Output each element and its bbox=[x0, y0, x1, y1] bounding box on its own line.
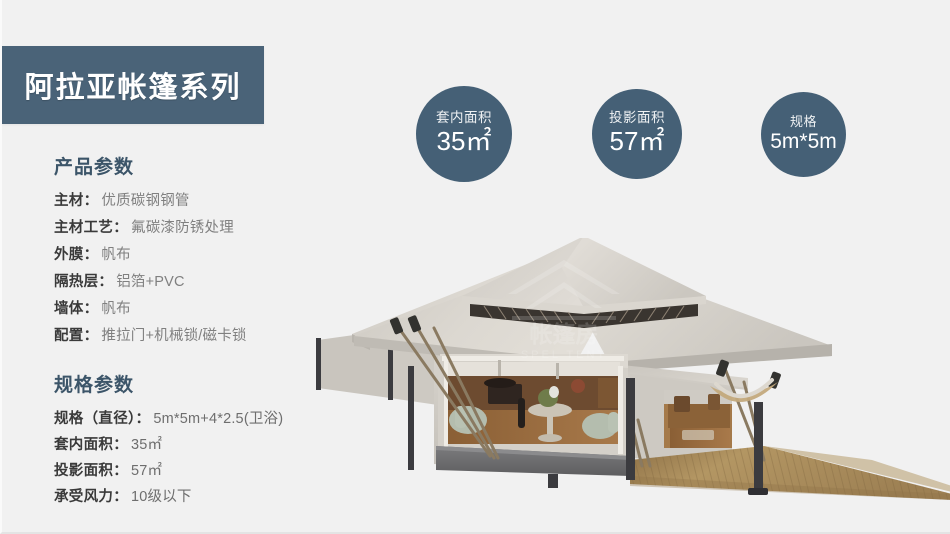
param-label: 墙体： bbox=[54, 301, 98, 317]
param-value: 5m*5m+4*2.5(卫浴) bbox=[153, 411, 283, 427]
badge-caption: 套内面积 bbox=[436, 111, 492, 126]
param-value: 帆布 bbox=[101, 247, 130, 263]
badge-value: 35㎡ bbox=[437, 127, 492, 157]
spec-section-heading: 规格参数 bbox=[54, 370, 354, 397]
list-item: 配置：推拉门+机械锁/磁卡锁 bbox=[54, 323, 354, 350]
svg-text:SPEL TENT: SPEL TENT bbox=[521, 349, 607, 361]
badge-projected-area: 投影面积 57㎡ bbox=[592, 89, 682, 179]
badge-value: 5m*5m bbox=[770, 130, 837, 154]
badge-caption: 投影面积 bbox=[609, 111, 665, 126]
list-item: 墙体：帆布 bbox=[54, 296, 354, 323]
param-value: 35㎡ bbox=[131, 437, 162, 453]
param-label: 主材： bbox=[54, 193, 98, 209]
param-label: 隔热层： bbox=[54, 274, 113, 290]
badge-dimensions: 规格 5m*5m bbox=[761, 92, 846, 177]
param-value: 57㎡ bbox=[131, 463, 162, 479]
param-label: 配置： bbox=[54, 328, 98, 344]
list-item: 主材：优质碳钢钢管 bbox=[54, 188, 354, 215]
badge-interior-area: 套内面积 35㎡ bbox=[416, 86, 512, 182]
product-parameter-list: 主材：优质碳钢钢管 主材工艺：氟碳漆防锈处理 外膜：帆布 隔热层：铝箔+PVC … bbox=[54, 188, 354, 350]
param-label: 主材工艺： bbox=[54, 220, 128, 236]
badge-caption: 规格 bbox=[790, 115, 817, 129]
param-label: 套内面积： bbox=[54, 437, 128, 453]
list-item: 规格（直径）：5m*5m+4*2.5(卫浴) bbox=[54, 406, 354, 432]
list-item: 主材工艺：氟碳漆防锈处理 bbox=[54, 215, 354, 242]
list-item: 隔热层：铝箔+PVC bbox=[54, 269, 354, 296]
list-item: 套内面积：35㎡ bbox=[54, 432, 354, 458]
list-item: 承受风力：10级以下 bbox=[54, 484, 354, 510]
poster-canvas: 阿拉亚帐篷系列 产品参数 主材：优质碳钢钢管 主材工艺：氟碳漆防锈处理 外膜：帆… bbox=[0, 0, 950, 534]
param-value: 帆布 bbox=[101, 301, 130, 317]
param-label: 规格（直径）： bbox=[54, 411, 150, 427]
tent-illustration: 帐篷房 SPEL TENT bbox=[312, 238, 950, 500]
param-label: 投影面积： bbox=[54, 463, 128, 479]
list-item: 投影面积：57㎡ bbox=[54, 458, 354, 484]
list-item: 外膜：帆布 bbox=[54, 242, 354, 269]
param-label: 承受风力： bbox=[54, 489, 128, 505]
specs-panel: 产品参数 主材：优质碳钢钢管 主材工艺：氟碳漆防锈处理 外膜：帆布 隔热层：铝箔… bbox=[54, 152, 354, 510]
spec-parameter-list: 规格（直径）：5m*5m+4*2.5(卫浴) 套内面积：35㎡ 投影面积：57㎡… bbox=[54, 406, 354, 510]
svg-text:帐篷房: 帐篷房 bbox=[530, 321, 599, 347]
product-section-heading: 产品参数 bbox=[54, 152, 354, 179]
cap-roof bbox=[462, 238, 706, 328]
param-value: 优质碳钢钢管 bbox=[101, 193, 189, 209]
badge-value: 57㎡ bbox=[610, 127, 665, 157]
param-value: 10级以下 bbox=[131, 489, 192, 505]
param-value: 推拉门+机械锁/磁卡锁 bbox=[101, 328, 246, 344]
param-value: 氟碳漆防锈处理 bbox=[131, 220, 234, 236]
page-title: 阿拉亚帐篷系列 bbox=[24, 64, 241, 106]
param-label: 外膜： bbox=[54, 247, 98, 263]
page-title-banner: 阿拉亚帐篷系列 bbox=[2, 46, 264, 124]
param-value: 铝箔+PVC bbox=[116, 274, 184, 290]
